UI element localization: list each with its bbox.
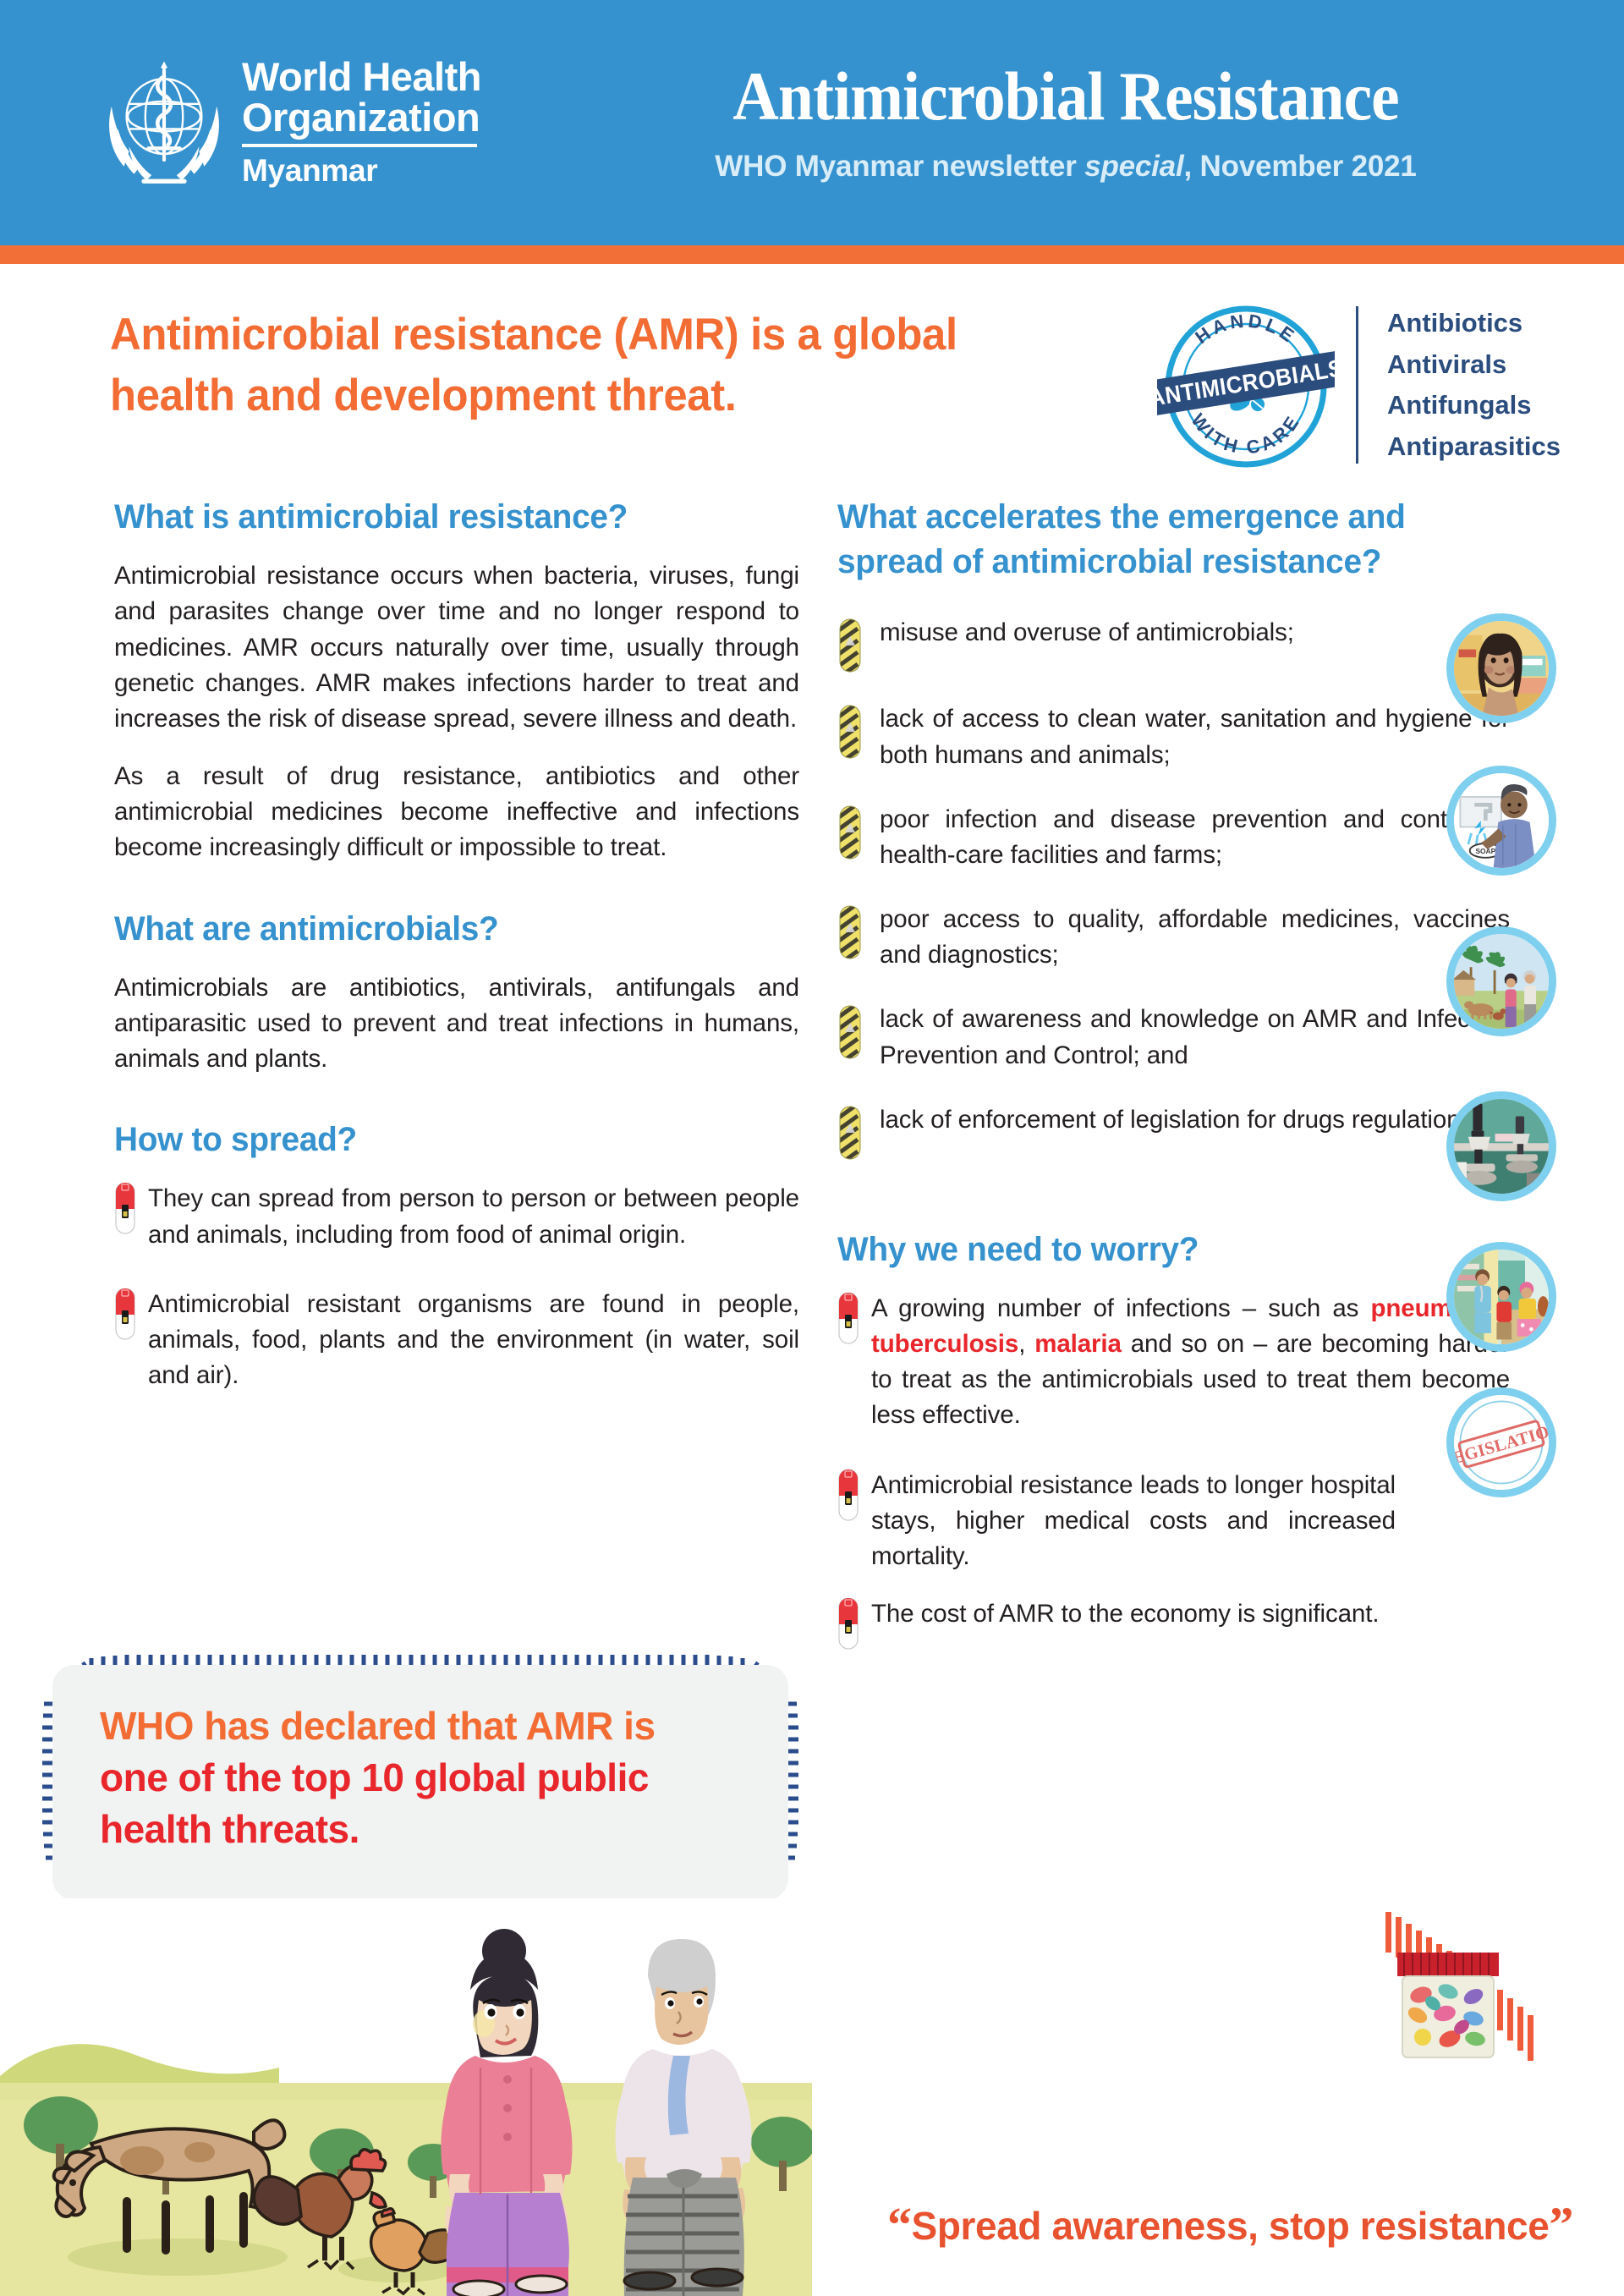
callout-line-2: one of the top 10 global public	[100, 1752, 768, 1804]
subtitle-pre: WHO Myanmar newsletter	[715, 150, 1084, 183]
list-item-text: They can spread from person to person or…	[148, 1181, 799, 1252]
list-item-text: lack of awareness and knowledge on AMR a…	[880, 1002, 1510, 1073]
red-white-capsule-icon	[837, 1293, 859, 1345]
list-item: Antimicrobial resistant organisms are fo…	[114, 1287, 799, 1394]
yellow-black-hazard-capsule-icon	[837, 1106, 863, 1160]
separator: ,	[1018, 1330, 1034, 1358]
who-org-line1: World Health	[242, 57, 481, 97]
hero-heading-line2: health and development threat.	[110, 371, 737, 420]
page-subtitle: WHO Myanmar newsletter special, November…	[592, 150, 1539, 184]
list-item-text: poor infection and disease prevention an…	[880, 802, 1510, 873]
list-item-text: lack of enforcement of legislation for d…	[880, 1102, 1510, 1138]
yellow-black-hazard-capsule-icon	[837, 705, 863, 759]
list-item: They can spread from person to person or…	[114, 1181, 799, 1252]
paragraph-amr-definition: Antimicrobial resistance occurs when bac…	[114, 558, 799, 737]
hero-vertical-divider	[1356, 306, 1358, 464]
header-titles: Antimicrobial Resistance WHO Myanmar new…	[592, 62, 1624, 184]
callout-text: WHO has declared that AMR is one of the …	[100, 1700, 768, 1856]
newsletter-page: World Health Organization Myanmar Antimi…	[0, 0, 1624, 2296]
quote-close: ”	[1549, 2197, 1573, 2252]
yellow-black-hazard-capsule-icon	[837, 905, 863, 959]
spacer	[114, 888, 799, 907]
section-heading-what-accelerates-amr: What accelerates the emergence and sprea…	[837, 495, 1490, 585]
subtitle-emphasis: special	[1084, 150, 1183, 183]
list-item: A growing number of infections – such as…	[837, 1291, 1510, 1434]
yellow-black-hazard-capsule-icon	[837, 1005, 863, 1059]
antimicrobial-type-item: Antiparasitics	[1387, 426, 1561, 468]
list-item: poor infection and disease prevention an…	[837, 802, 1510, 873]
photo-legislation-stamp: LEGISLATION	[1446, 1387, 1556, 1497]
photo-laboratory-microscopes	[1446, 1091, 1556, 1201]
red-white-capsule-icon	[114, 1183, 136, 1235]
worry-text-pre: A growing number of infections – such as	[871, 1294, 1370, 1322]
list-item-text: misuse and overuse of antimicrobials;	[880, 615, 1510, 651]
who-country-label: Myanmar	[242, 153, 481, 189]
antimicrobial-type-item: Antivirals	[1387, 344, 1561, 386]
disease-malaria: malaria	[1034, 1330, 1122, 1358]
who-emblem-icon	[101, 55, 227, 190]
page-header: World Health Organization Myanmar Antimi…	[0, 0, 1624, 245]
footer-tagline: “Spread awareness, stop resistance”	[812, 2196, 1573, 2253]
list-item: lack of access to clean water, sanitatio…	[837, 701, 1510, 772]
list-item: The cost of AMR to the economy is signif…	[837, 1596, 1396, 1651]
antimicrobial-type-item: Antibiotics	[1387, 303, 1561, 344]
svg-text:SOAP: SOAP	[1475, 847, 1495, 855]
section-heading-how-to-spread: How to spread?	[114, 1118, 779, 1162]
tagline-text: Spread awareness, stop resistance	[912, 2204, 1550, 2248]
spacer	[114, 1099, 799, 1118]
photo-clinic-consultation	[1446, 1242, 1556, 1352]
list-item-text: lack of access to clean water, sanitatio…	[880, 701, 1510, 772]
section-heading-what-is-amr: What is antimicrobial resistance?	[114, 495, 779, 540]
paragraph-amr-consequence: As a result of drug resistance, antibiot…	[114, 759, 799, 866]
list-item: misuse and overuse of antimicrobials;	[837, 615, 1510, 673]
callout-line-1: WHO has declared that AMR is	[100, 1700, 768, 1752]
list-item-text: The cost of AMR to the economy is signif…	[871, 1596, 1396, 1632]
antimicrobial-types-list: Antibiotics Antivirals Antifungals Antip…	[1387, 303, 1561, 468]
list-item: poor access to quality, affordable medic…	[837, 902, 1510, 973]
list-item: lack of enforcement of legislation for d…	[837, 1102, 1510, 1160]
who-rule-divider	[242, 144, 477, 147]
list-item: lack of awareness and knowledge on AMR a…	[837, 1002, 1510, 1073]
hero-heading-line1: Antimicrobial resistance (AMR) is a glob…	[110, 310, 957, 360]
red-white-capsule-icon	[114, 1288, 136, 1341]
photo-village-farm-scene	[1446, 926, 1556, 1036]
left-column: What is antimicrobial resistance? Antimi…	[114, 495, 799, 1415]
list-item-text: Antimicrobial resistance leads to longer…	[871, 1468, 1396, 1575]
illustration-pill-jar-falling-chart	[1379, 1903, 1544, 2073]
illustration-village-couple-livestock	[0, 1898, 812, 2296]
list-item-text: Antimicrobial resistant organisms are fo…	[148, 1287, 799, 1394]
photo-handwashing-with-soap: SOAP	[1446, 766, 1556, 876]
callout-line-3: health threats.	[100, 1804, 768, 1855]
page-title: Antimicrobial Resistance	[630, 62, 1501, 131]
subtitle-post: , November 2021	[1183, 150, 1416, 183]
disease-tuberculosis: tuberculosis	[871, 1330, 1018, 1358]
section-heading-why-we-need-to-worry: Why we need to worry?	[837, 1228, 1490, 1272]
who-org-line2: Organization	[242, 97, 481, 138]
list-item: Antimicrobial resistance leads to longer…	[837, 1468, 1396, 1575]
red-white-capsule-icon	[837, 1469, 859, 1522]
quote-open: “	[887, 2197, 912, 2252]
yellow-black-hazard-capsule-icon	[837, 618, 863, 673]
hero-section: Antimicrobial resistance (AMR) is a glob…	[0, 288, 1624, 486]
list-item-text: A growing number of infections – such as…	[871, 1291, 1510, 1434]
handle-antimicrobials-with-care-badge: HANDLE WITH CARE ANTIMICROBIALS	[1157, 298, 1335, 475]
list-item-text: poor access to quality, affordable medic…	[880, 902, 1510, 973]
who-logo-block: World Health Organization Myanmar	[101, 55, 541, 190]
photo-woman-at-pharmacy	[1446, 613, 1556, 723]
red-white-capsule-icon	[837, 1598, 859, 1651]
section-heading-what-are-antimicrobials: What are antimicrobials?	[114, 907, 779, 952]
paragraph-antimicrobials-definition: Antimicrobials are antibiotics, antivira…	[114, 970, 799, 1078]
accent-divider-bar	[0, 245, 1624, 264]
right-column: What accelerates the emergence and sprea…	[837, 495, 1510, 1673]
who-wordmark: World Health Organization Myanmar	[242, 57, 481, 190]
antimicrobial-type-item: Antifungals	[1387, 385, 1561, 426]
yellow-black-hazard-capsule-icon	[837, 805, 863, 860]
hero-heading: Antimicrobial resistance (AMR) is a glob…	[110, 305, 1109, 426]
